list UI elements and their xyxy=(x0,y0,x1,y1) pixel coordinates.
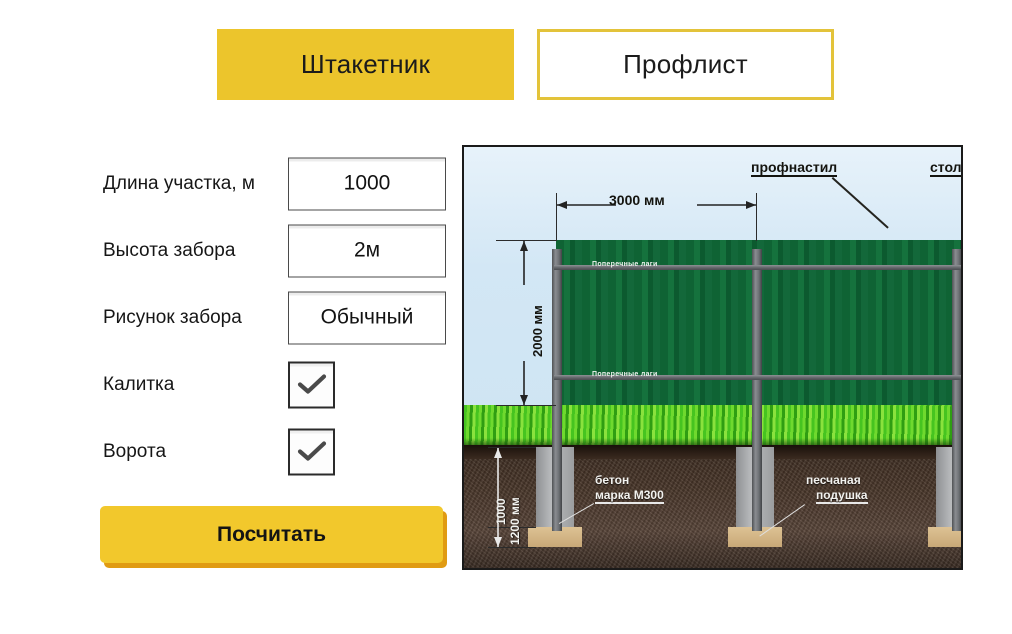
tab-proflist-label: Профлист xyxy=(623,49,748,80)
fence-diagram-image: Поперечные лаги Поперечные лаги 3000 мм … xyxy=(462,145,963,570)
diagram-hole-depth-label: 1200 мм xyxy=(508,497,522,545)
label-plot-length: Длина участка, м xyxy=(103,173,255,195)
diagram-height-label: 2000 мм xyxy=(530,305,545,357)
diagram-concrete-label-line1: бетон xyxy=(595,473,629,487)
diagram-post-label: столб xyxy=(930,159,963,177)
calculator-form: Длина участка, м 1000 Высота забора 2м Р… xyxy=(103,150,448,485)
check-icon xyxy=(297,373,327,397)
input-plot-length[interactable]: 1000 xyxy=(288,157,446,210)
label-fence-pattern: Рисунок забора xyxy=(103,307,242,329)
calculate-button[interactable]: Посчитать xyxy=(100,506,443,563)
checkbox-gate[interactable] xyxy=(288,428,335,475)
diagram-height-arrows xyxy=(518,240,530,406)
label-gate: Ворота xyxy=(103,441,166,463)
form-row-wicket: Калитка xyxy=(103,351,448,418)
tab-shtaketnik-label: Штакетник xyxy=(301,49,430,80)
diagram-span-label: 3000 мм xyxy=(609,192,665,208)
label-wicket: Калитка xyxy=(103,374,174,396)
diagram-rail-bottom-label: Поперечные лаги xyxy=(592,371,658,378)
form-row-height: Высота забора 2м xyxy=(103,217,448,284)
diagram-sand-label-line1: песчаная xyxy=(806,473,861,487)
diagram-post-3 xyxy=(952,249,962,531)
label-fence-height: Высота забора xyxy=(103,240,235,262)
diagram-grass xyxy=(464,405,961,450)
diagram-post-1 xyxy=(552,249,562,531)
check-icon xyxy=(297,440,327,464)
form-row-length: Длина участка, м 1000 xyxy=(103,150,448,217)
diagram-post-2 xyxy=(752,249,762,531)
tab-proflist[interactable]: Профлист xyxy=(537,29,834,100)
fence-type-tabs: Штакетник Профлист xyxy=(217,29,834,100)
form-row-pattern: Рисунок забора Обычный xyxy=(103,284,448,351)
checkbox-wicket[interactable] xyxy=(288,361,335,408)
select-fence-height[interactable]: 2м xyxy=(288,224,446,277)
diagram-concrete-label-line2: марка М300 xyxy=(595,488,664,504)
diagram-post-depth-label: 1000 xyxy=(494,498,508,525)
tab-shtaketnik[interactable]: Штакетник xyxy=(217,29,514,100)
select-fence-pattern[interactable]: Обычный xyxy=(288,291,446,344)
diagram-rail-top-label: Поперечные лаги xyxy=(592,261,658,268)
form-row-gate: Ворота xyxy=(103,418,448,485)
diagram-sheet-label: профнастил xyxy=(751,159,837,177)
diagram-sand-label-line2: подушка xyxy=(816,488,868,504)
